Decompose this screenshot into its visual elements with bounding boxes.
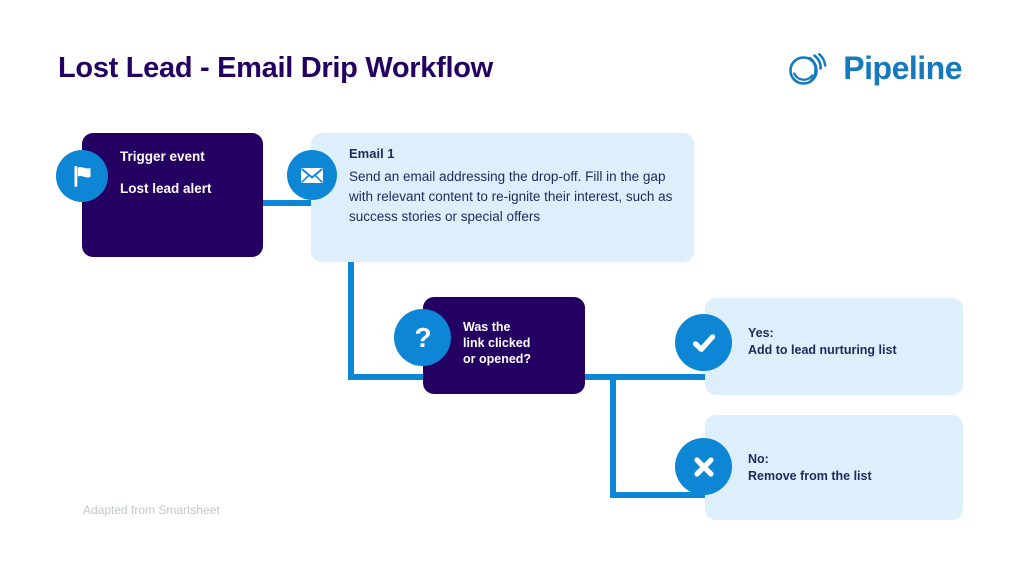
email-body: Email 1 Send an email addressing the dro… — [349, 146, 684, 227]
x-circle-icon — [675, 438, 732, 495]
outcome-action-no: Remove from the list — [748, 468, 872, 485]
outcome-action-yes: Add to lead nurturing list — [748, 342, 897, 359]
outcome-label-no: No: — [748, 451, 872, 468]
outcome-text-block-yes: Yes: Add to lead nurturing list — [748, 325, 897, 359]
node-outcome-no[interactable]: No: Remove from the list — [705, 415, 963, 520]
flag-icon — [56, 150, 108, 202]
node-outcome-yes[interactable]: Yes: Add to lead nurturing list — [705, 298, 963, 395]
diagram-canvas: Lost Lead - Email Drip Workflow Pipeline — [0, 0, 1024, 576]
email-description: Send an email addressing the drop-off. F… — [349, 167, 684, 227]
question-mark-icon: ? — [394, 309, 451, 366]
email-title: Email 1 — [349, 146, 684, 161]
check-circle-icon — [675, 314, 732, 371]
trigger-value: Lost lead alert — [120, 181, 255, 198]
decision-line-2: link clicked — [463, 335, 578, 351]
trigger-text-block: Trigger event Lost lead alert — [120, 149, 255, 198]
node-decision[interactable]: ? Was the link clicked or opened? — [423, 297, 585, 394]
outcome-text-block-no: No: Remove from the list — [748, 451, 872, 485]
decision-line-1: Was the — [463, 319, 578, 335]
decision-line-3: or opened? — [463, 351, 578, 367]
svg-text:?: ? — [414, 322, 431, 353]
envelope-icon — [287, 150, 337, 200]
attribution-text: Adapted from Smartsheet — [83, 503, 220, 517]
node-trigger-event[interactable]: Trigger event Lost lead alert — [82, 133, 263, 257]
trigger-label: Trigger event — [120, 149, 255, 166]
node-email-1[interactable]: Email 1 Send an email addressing the dro… — [311, 133, 694, 262]
decision-text-block: Was the link clicked or opened? — [463, 319, 578, 367]
outcome-label-yes: Yes: — [748, 325, 897, 342]
